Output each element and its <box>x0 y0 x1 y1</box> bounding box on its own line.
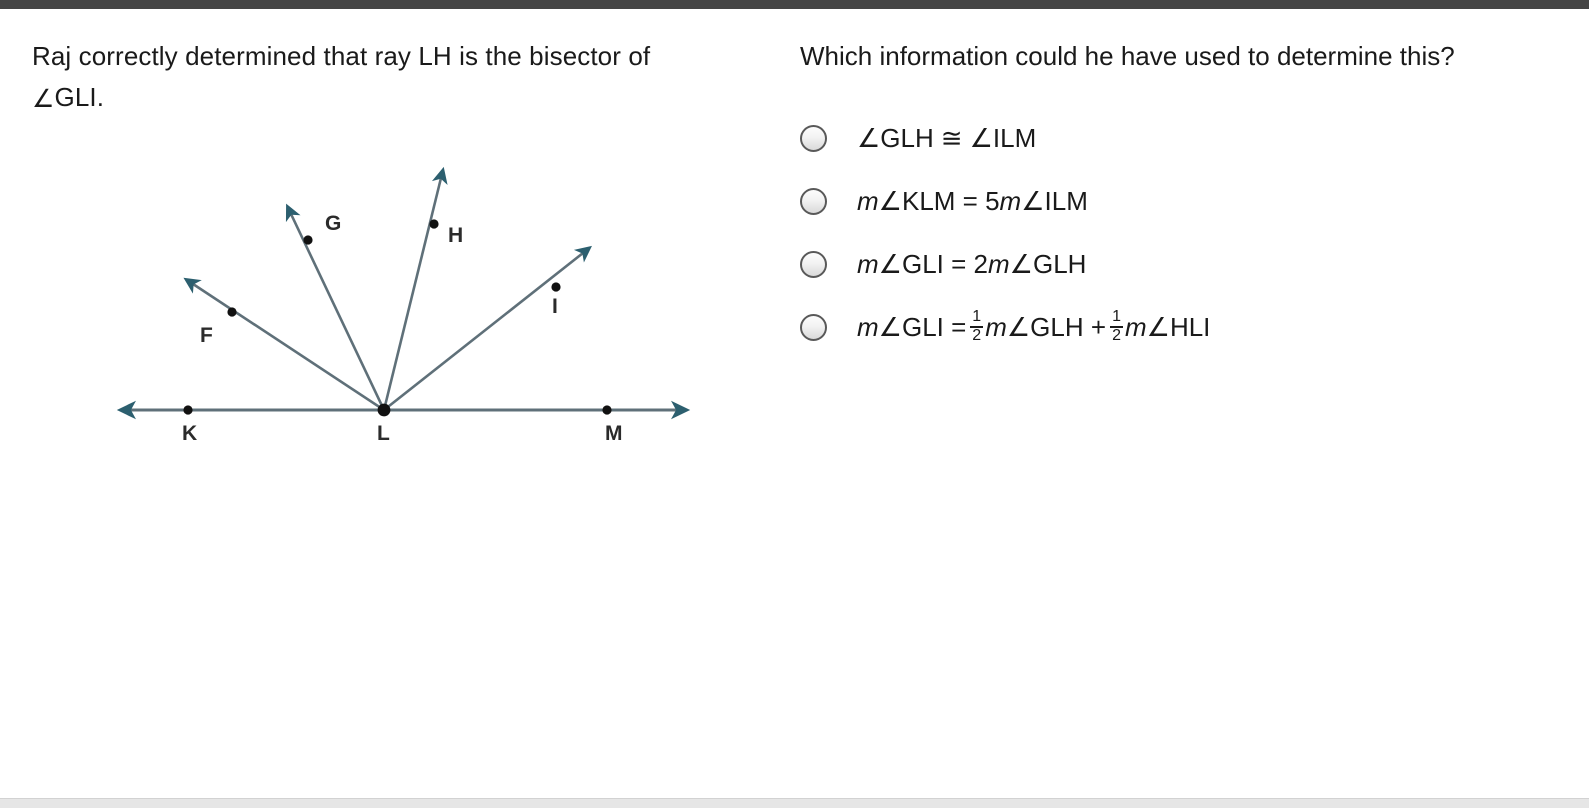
option-b-part-1: ∠KLM = 5 <box>879 186 1000 217</box>
option-d-m-3: m <box>1125 312 1147 343</box>
option-b-part-2: ∠ILM <box>1021 186 1088 217</box>
angle-symbol-icon: ∠ <box>32 79 55 120</box>
radio-button-c[interactable] <box>800 251 827 278</box>
label-h: H <box>448 224 463 247</box>
option-d-part-3: ∠HLI <box>1147 312 1211 343</box>
option-c-m-2: m <box>988 249 1010 280</box>
options-list: ∠GLH ≅ ∠ILM m∠KLM = 5m∠ILM m∠GLI = 2m∠GL… <box>800 107 1520 359</box>
prompt-line-2-rest: GLI. <box>55 82 105 112</box>
option-row-a[interactable]: ∠GLH ≅ ∠ILM <box>800 107 1520 170</box>
answers-column: Which information could he have used to … <box>800 36 1520 359</box>
label-l: L <box>377 422 390 445</box>
option-label-a: ∠GLH ≅ ∠ILM <box>857 123 1036 154</box>
label-k: K <box>182 422 197 445</box>
option-a-part-2: ∠ILM <box>970 123 1037 154</box>
option-d-m-1: m <box>857 312 879 343</box>
option-a-part-1: ∠GLH <box>857 123 934 154</box>
option-a-congruent-symbol: ≅ <box>941 123 963 154</box>
label-m: M <box>605 422 623 445</box>
option-c-part-1: ∠GLI = 2 <box>879 249 988 280</box>
fraction-denominator: 2 <box>1110 326 1123 344</box>
prompt-column: Raj correctly determined that ray LH is … <box>32 36 762 119</box>
label-f: F <box>200 324 213 347</box>
point-dot-i <box>551 282 560 291</box>
rays-group <box>193 178 583 410</box>
option-b-m-2: m <box>1000 186 1022 217</box>
top-browser-bar <box>0 0 1589 9</box>
option-row-b[interactable]: m∠KLM = 5m∠ILM <box>800 170 1520 233</box>
point-dot-k <box>183 405 192 414</box>
ray-li <box>384 253 583 410</box>
fraction-denominator: 2 <box>970 326 983 344</box>
option-d-part-1: ∠GLI = <box>879 312 967 343</box>
fraction-one-half-first: 1 2 <box>970 309 983 344</box>
option-label-b: m∠KLM = 5m∠ILM <box>857 186 1088 217</box>
option-d-part-2: ∠GLH + <box>1007 312 1106 343</box>
point-dot-l <box>378 404 391 417</box>
option-b-m-1: m <box>857 186 879 217</box>
option-d-m-2: m <box>985 312 1007 343</box>
option-c-m-1: m <box>857 249 879 280</box>
ray-lh <box>384 178 441 410</box>
geometry-diagram: F G H I K L M <box>100 150 720 470</box>
radio-button-a[interactable] <box>800 125 827 152</box>
option-label-d: m∠GLI = 1 2 m∠GLH + 1 2 m∠HLI <box>857 310 1210 345</box>
point-dots <box>183 219 611 416</box>
prompt-line-1: Raj correctly determined that ray LH is … <box>32 41 650 71</box>
fraction-numerator: 1 <box>1110 309 1123 325</box>
option-c-part-2: ∠GLH <box>1010 249 1087 280</box>
point-dot-m <box>602 405 611 414</box>
label-i: I <box>552 295 558 318</box>
label-g: G <box>325 212 341 235</box>
point-dot-g <box>303 235 312 244</box>
option-row-c[interactable]: m∠GLI = 2m∠GLH <box>800 233 1520 296</box>
radio-button-b[interactable] <box>800 188 827 215</box>
point-dot-h <box>429 219 438 228</box>
prompt-paragraph: Raj correctly determined that ray LH is … <box>32 36 762 119</box>
option-row-d[interactable]: m∠GLI = 1 2 m∠GLH + 1 2 m∠HLI <box>800 296 1520 359</box>
point-dot-f <box>227 307 236 316</box>
fraction-numerator: 1 <box>970 309 983 325</box>
question-text: Which information could he have used to … <box>800 36 1500 77</box>
fraction-one-half-second: 1 2 <box>1110 309 1123 344</box>
radio-button-d[interactable] <box>800 314 827 341</box>
option-label-c: m∠GLI = 2m∠GLH <box>857 249 1086 280</box>
